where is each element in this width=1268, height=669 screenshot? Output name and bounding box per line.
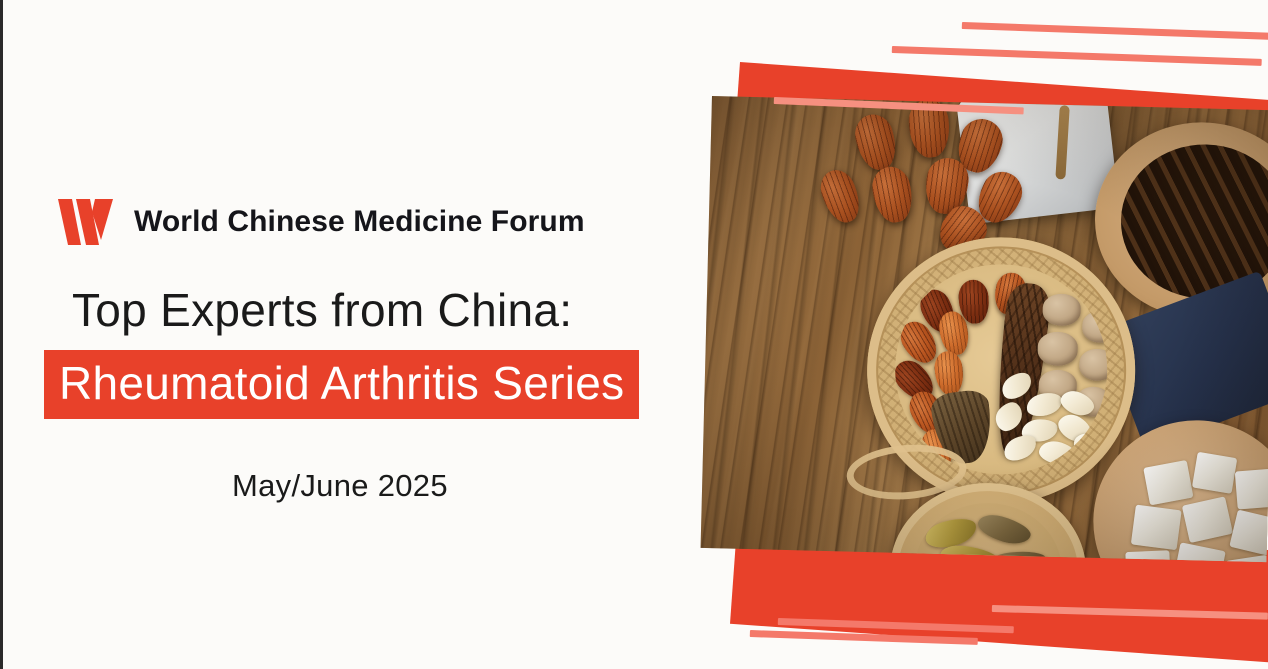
brand-lockup: World Chinese Medicine Forum xyxy=(55,196,585,248)
brand-name: World Chinese Medicine Forum xyxy=(134,207,585,237)
photo-vignette xyxy=(701,96,1268,562)
headline-line-1: Top Experts from China: xyxy=(72,285,572,337)
accent-stroke-top-2 xyxy=(892,46,1262,66)
text-column: World Chinese Medicine Forum Top Experts… xyxy=(0,0,700,669)
w-monogram-icon xyxy=(55,196,117,248)
herbs-photo xyxy=(701,96,1268,562)
left-edge-rule xyxy=(0,0,3,669)
artwork-composition xyxy=(700,0,1268,669)
headline-line-2: Rheumatoid Arthritis Series xyxy=(44,350,639,419)
promotional-banner: World Chinese Medicine Forum Top Experts… xyxy=(0,0,1268,669)
headline-line-2-wrapper: Rheumatoid Arthritis Series xyxy=(44,350,639,419)
accent-stroke-top-1 xyxy=(962,22,1268,40)
event-date: May/June 2025 xyxy=(232,468,448,504)
